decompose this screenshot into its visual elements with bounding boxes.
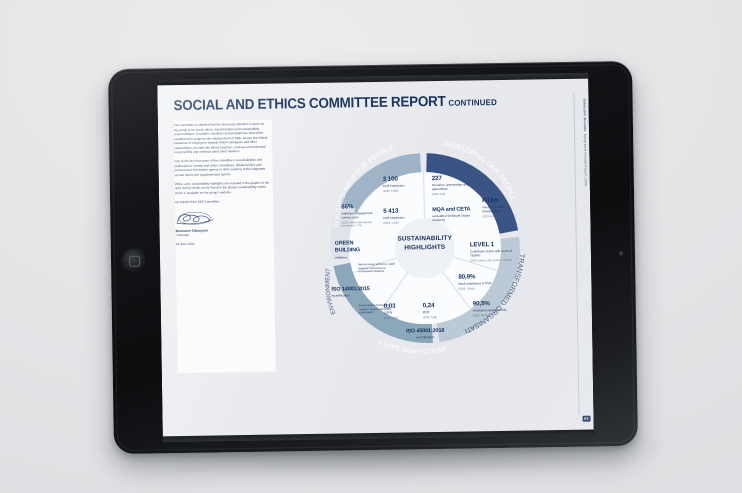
stat-value: ISO 14001:2015 xyxy=(331,287,389,293)
stat-rcr: 0,24 RCR (2023: 0,44) xyxy=(423,303,453,320)
donut-center-title: SUSTAINABILITY HIGHLIGHTS xyxy=(385,234,465,253)
stat-value: 3 100 xyxy=(383,176,419,183)
stat-iso45001: ISO 45001:2018 recertification xyxy=(384,329,466,341)
stat-prev: (2023: 80%) (International benchmark: 77… xyxy=(341,221,378,228)
stat-desc: RCR xyxy=(423,311,453,315)
stat-total-employees: 5 413 total employees (2023: 4 400) xyxy=(383,208,419,225)
stat-desc: total employees xyxy=(383,216,419,220)
signature-icon xyxy=(175,210,215,226)
stat-desc: invested in skills development xyxy=(482,206,514,214)
stat-prev: (2023: 79,8%) xyxy=(458,287,504,291)
sidebar-divider xyxy=(573,93,579,416)
stat-prev: (2023: 0,04) xyxy=(384,316,414,320)
tablet-screen: SOCIAL AND ETHICS COMMITTEE REPORTCONTIN… xyxy=(157,73,594,443)
home-button-square-icon xyxy=(129,255,140,266)
home-button[interactable] xyxy=(121,247,148,274)
stat-bbbee-level: LEVEL 1 Contributor status with score of… xyxy=(470,242,514,263)
stat-desc: black employees in RSA xyxy=(458,282,504,287)
sustainability-donut-chart: INVOLVED WITH OUR PEOPLE DEVELOPING OUR … xyxy=(278,101,573,396)
stat-bursaries: 227 bursaries, learnerships and apprenti… xyxy=(432,175,480,196)
stat-pdi-employees: 90,5% employees deemed PDIs (2023: 88,9%… xyxy=(473,301,511,318)
stat-value: 90,5% xyxy=(473,301,511,308)
stat-local-employees: 3 100 local employees (2023: 3 360) xyxy=(383,176,419,193)
stat-desc: employees deemed PDIs xyxy=(473,309,511,314)
sidebar-running-head: Sekunjalo Bonatla Integrated Annual Repo… xyxy=(583,99,588,187)
paragraph: Due to the fact that some of the committ… xyxy=(174,158,269,177)
stat-mqa-ceta: MQA and CETA accredited Stefanutti Stock… xyxy=(432,207,476,223)
stat-value: 5 413 xyxy=(383,208,419,215)
paragraph: The committee is satisfied that the nece… xyxy=(174,122,269,155)
stat-prev: (2023: 4 400) xyxy=(383,221,419,225)
stat-prev: (2023: R9m) xyxy=(482,215,514,219)
stat-desc: bursaries, learnerships and apprentices xyxy=(432,183,480,192)
stat-desc: employee engagement survey score xyxy=(341,212,378,220)
stat-value: R12m xyxy=(482,198,514,205)
sidebar-brand: Sekunjalo Bonatla xyxy=(583,99,588,132)
signature-role: Chairman xyxy=(176,232,271,237)
stat-desc: Various energy efficiency, waste reducti… xyxy=(358,263,400,274)
report-page: SOCIAL AND ETHICS COMMITTEE REPORTCONTIN… xyxy=(157,79,593,437)
stat-green-building: GREEN BUILDING initiatives xyxy=(335,240,375,260)
stat-prev: (2023: 0,44) xyxy=(423,316,453,320)
tablet-device: SOCIAL AND ETHICS COMMITTEE REPORTCONTIN… xyxy=(108,61,638,454)
stat-value: GREEN BUILDING xyxy=(335,240,375,255)
center-title-line2: HIGHLIGHTS xyxy=(385,243,465,253)
stat-engagement-score: 86% employee engagement survey score (20… xyxy=(341,204,378,228)
stat-skills-investment: R12m invested in skills development (202… xyxy=(482,198,514,219)
stat-iso14001: ISO 14001:2015 recertification xyxy=(331,287,389,299)
stat-prev: (2023: Level 1 with score of 72,76%) xyxy=(470,259,514,263)
signature-date: 14 June 2024 xyxy=(176,241,271,246)
stat-desc: local employees xyxy=(383,184,419,188)
front-camera-icon xyxy=(619,251,624,256)
stat-value: 0,24 xyxy=(423,303,453,310)
stat-energy-initiatives: Various energy efficiency, waste reducti… xyxy=(358,263,400,274)
left-text-column: The committee is satisfied that the nece… xyxy=(174,120,276,374)
sidebar-doc-title: Integrated Annual Report 2024 xyxy=(583,134,588,186)
stat-desc: Investments in biodiversity research stu… xyxy=(359,304,393,315)
on-behalf-text: On behalf of the S&E Committee xyxy=(175,198,270,203)
page-number: 63 xyxy=(582,416,590,422)
stat-desc: Contributor status with score of 78,60% xyxy=(470,250,514,259)
stat-biodiversity: Investments in biodiversity research stu… xyxy=(359,304,393,315)
stat-black-employees: 80,9% black employees in RSA (2023: 79,8… xyxy=(458,274,504,291)
stat-prev: (2023: 3 360) xyxy=(383,189,419,193)
stat-value: 86% xyxy=(341,204,378,211)
stat-desc: accredited Stefanutti Stocks Academy xyxy=(432,214,476,223)
stat-desc: initiatives xyxy=(335,256,375,261)
stat-value: 80,9% xyxy=(458,274,504,281)
stat-prev: (2023: 88,9%) xyxy=(473,314,511,318)
stat-value: LEVEL 1 xyxy=(470,242,514,249)
paragraph: While some sustainability highlights are… xyxy=(175,180,270,195)
stat-value: 227 xyxy=(432,175,480,182)
